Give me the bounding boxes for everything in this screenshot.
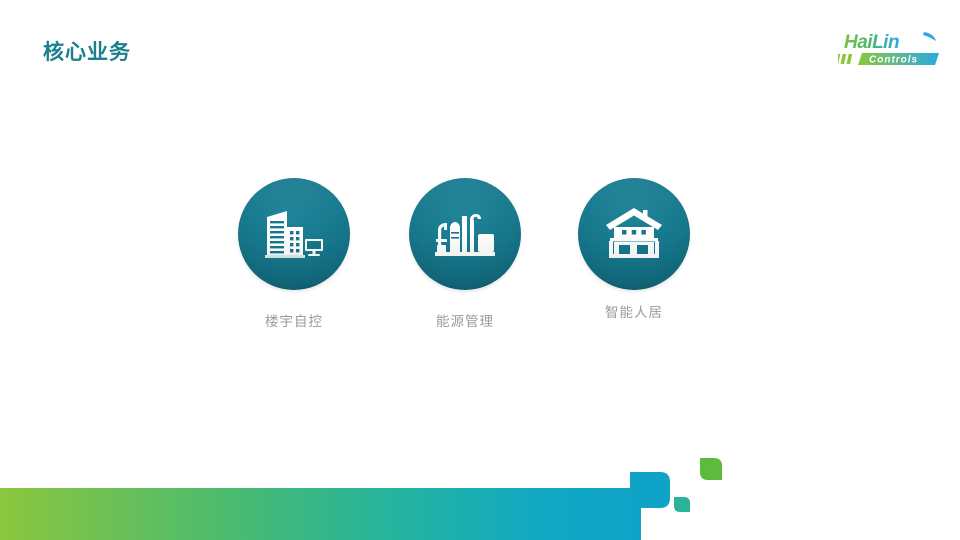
icon-circle-energy-management[interactable] — [409, 178, 521, 290]
item-label-energy-management: 能源管理 — [385, 315, 545, 329]
item-label-smart-living: 智能人居 — [554, 306, 714, 320]
icon-circle-smart-living[interactable] — [578, 178, 690, 290]
icon-circle-building-automation[interactable] — [238, 178, 350, 290]
bottom-gradient-bar — [0, 488, 641, 540]
bottom-decoration — [0, 450, 960, 540]
item-label-building-automation: 楼宇自控 — [214, 315, 374, 329]
deco-square-small-teal — [674, 497, 690, 512]
house-icon — [604, 207, 664, 261]
industrial-plant-icon — [434, 206, 496, 262]
deco-square-green — [700, 458, 722, 480]
item-building-automation[interactable]: 楼宇自控 — [214, 178, 374, 329]
office-buildings-monitor-icon — [263, 205, 325, 263]
slide-canvas: 核心业务 HaiLin — [0, 0, 960, 540]
deco-tab-teal — [630, 472, 670, 508]
item-energy-management[interactable]: 能源管理 — [385, 178, 545, 329]
item-smart-living[interactable]: 智能人居 — [554, 178, 714, 320]
